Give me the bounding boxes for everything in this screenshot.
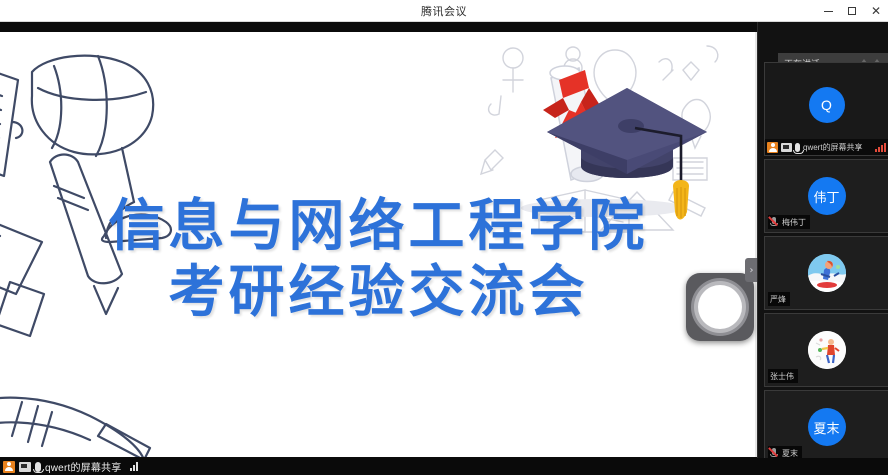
figure-avatar-icon (808, 331, 846, 369)
screen-share-status-bar: qwert的屏幕共享 (0, 458, 888, 475)
screen-share-icon (19, 462, 31, 472)
participant-tile-list: Q qwert的屏幕共享 伟丁 梅伟丁 (764, 62, 888, 467)
title-bar: 腾讯会议 ✕ (0, 0, 888, 22)
floating-camera-widget[interactable] (686, 273, 754, 341)
maximize-button[interactable] (840, 0, 864, 22)
person-icon (3, 461, 15, 473)
share-status-label: qwert的屏幕共享 (45, 459, 121, 474)
participant-name-bar: qwert的屏幕共享 (765, 139, 888, 155)
person-icon (767, 142, 778, 153)
left-sketch-illustration (0, 36, 194, 457)
tencent-meeting-window: 腾讯会议 ✕ (0, 0, 888, 475)
participant-name-bar: 梅伟丁 (768, 215, 810, 229)
mic-muted-icon (770, 217, 779, 228)
participant-name: qwert的屏幕共享 (803, 142, 863, 153)
screen-share-icon (781, 143, 792, 152)
close-button[interactable]: ✕ (864, 0, 888, 22)
network-signal-icon (875, 143, 886, 152)
window-title: 腾讯会议 (421, 3, 467, 19)
participant-panel: 正在讲话: Q qwert的屏幕共享 伟丁 (757, 22, 888, 475)
snowboarder-avatar-icon (808, 254, 846, 292)
participant-name: 张士伟 (770, 371, 794, 382)
meeting-stage: 信息与网络工程学院 考研经验交流会 › 正在讲话: Q (0, 22, 888, 475)
camera-lens-icon (698, 285, 742, 329)
shared-screen-view[interactable]: 信息与网络工程学院 考研经验交流会 (0, 32, 757, 457)
participant-name: 梅伟丁 (782, 217, 806, 228)
mic-icon (795, 143, 800, 152)
minimize-button[interactable] (816, 0, 840, 22)
participant-tile[interactable]: 张士伟 (764, 313, 888, 387)
presentation-slide: 信息与网络工程学院 考研经验交流会 (0, 32, 757, 457)
avatar (808, 254, 846, 292)
participant-name: 严烽 (770, 294, 786, 305)
window-controls: ✕ (816, 0, 888, 22)
participant-name-bar: 严烽 (768, 292, 790, 306)
avatar: 夏末 (808, 408, 846, 446)
close-icon: ✕ (871, 5, 881, 17)
participant-tile[interactable]: 严烽 (764, 236, 888, 310)
participant-name-bar: 张士伟 (768, 369, 798, 383)
participant-tile[interactable]: 伟丁 梅伟丁 (764, 159, 888, 233)
maximize-icon (848, 7, 856, 15)
avatar: Q (809, 87, 845, 123)
network-signal-icon (130, 462, 138, 471)
avatar (808, 331, 846, 369)
mic-muted-icon (770, 448, 779, 459)
participant-tile[interactable]: 夏末 夏末 (764, 390, 888, 464)
minimize-icon (824, 11, 833, 12)
participant-tile[interactable]: Q qwert的屏幕共享 (764, 62, 888, 156)
graduation-cap-icon (485, 40, 715, 240)
avatar: 伟丁 (808, 177, 846, 215)
participant-name: 夏末 (782, 448, 798, 459)
mic-icon (35, 462, 41, 472)
